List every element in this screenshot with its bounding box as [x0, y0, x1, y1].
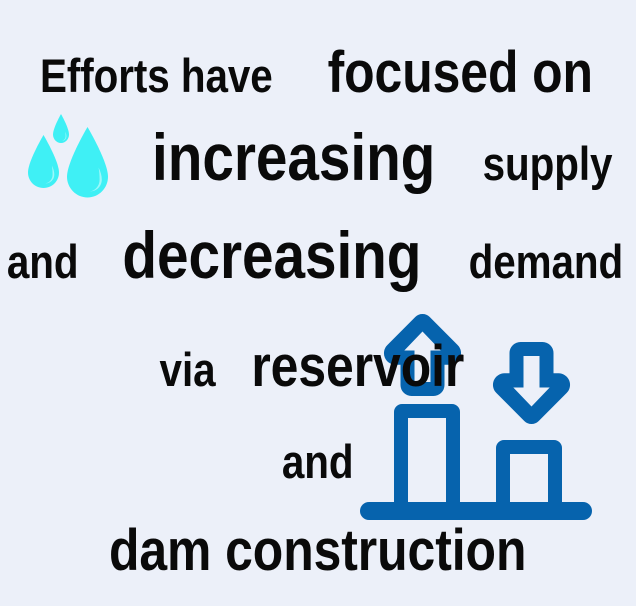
headline-seg-efforts-have: Efforts have [40, 52, 273, 99]
headline-seg-demand: demand [468, 238, 623, 285]
headline-line-3: anddecreasingdemand [0, 222, 636, 288]
headline-seg-focused-on: focused on [328, 44, 593, 102]
droplet-medium [28, 135, 59, 188]
infographic-slide: Efforts havefocused on increasingsupply … [0, 0, 636, 606]
headline-seg-increasing: increasing [152, 124, 435, 190]
bar-chart-supply-demand-icon [356, 312, 596, 524]
droplet-small [53, 114, 69, 143]
headline-seg-dam-construction: dam construction [109, 522, 526, 580]
chart-baseline [360, 502, 592, 520]
droplet-large [67, 127, 108, 198]
headline-seg-decreasing: decreasing [122, 222, 421, 288]
arrow-down-icon [493, 342, 570, 424]
arrow-up-icon [384, 314, 461, 396]
headline-line-6: dam construction [0, 522, 636, 580]
headline-seg-and-1: and [6, 238, 78, 285]
water-droplets-icon [24, 106, 124, 208]
bar-tall [394, 404, 460, 508]
headline-seg-via: via [159, 346, 215, 393]
bar-short [496, 440, 562, 508]
headline-seg-supply: supply [483, 140, 613, 187]
headline-line-1: Efforts havefocused on [0, 44, 636, 102]
headline-seg-and-2: and [282, 438, 354, 485]
